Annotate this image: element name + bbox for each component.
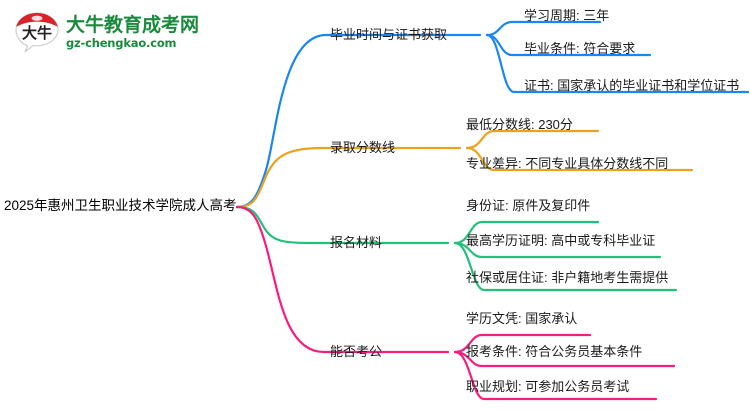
mindmap-leaf-node-2-1[interactable]: 最低分数线: 230分 bbox=[466, 117, 573, 133]
mindmap-branch-node-3[interactable]: 报名材料 bbox=[330, 235, 382, 251]
mindmap-leaf-node-4-3[interactable]: 职业规划: 可参加公务员考试 bbox=[466, 379, 629, 395]
branch-spine-1 bbox=[237, 35, 480, 207]
mindmap-leaf-node-1-2[interactable]: 毕业条件: 符合要求 bbox=[524, 41, 635, 57]
mindmap-leaf-node-1-3[interactable]: 证书: 国家承认的毕业证书和学位证书 bbox=[524, 78, 739, 94]
mindmap-canvas: 2025年惠州卫生职业技术学院成人高考 毕业时间与证书获取 学习周期: 三年 毕… bbox=[0, 0, 750, 410]
mindmap-branch-node-1[interactable]: 毕业时间与证书获取 bbox=[330, 27, 447, 43]
mindmap-leaf-node-1-1[interactable]: 学习周期: 三年 bbox=[524, 8, 609, 24]
mindmap-leaf-node-3-3[interactable]: 社保或居住证: 非户籍地考生需提供 bbox=[466, 270, 668, 286]
mindmap-leaf-node-4-1[interactable]: 学历文凭: 国家承认 bbox=[466, 311, 577, 327]
mindmap-leaf-node-3-1[interactable]: 身份证: 原件及复印件 bbox=[466, 198, 590, 214]
branch-spine-4 bbox=[237, 207, 448, 352]
mindmap-root-node[interactable]: 2025年惠州卫生职业技术学院成人高考 bbox=[4, 198, 237, 214]
branch-spine-2 bbox=[237, 148, 460, 207]
mindmap-leaf-node-3-2[interactable]: 最高学历证明: 高中或专科毕业证 bbox=[466, 233, 655, 249]
branch-connectors-1 bbox=[237, 22, 748, 207]
mindmap-leaf-node-2-2[interactable]: 专业差异: 不同专业具体分数线不同 bbox=[466, 156, 668, 172]
mindmap-branch-node-2[interactable]: 录取分数线 bbox=[330, 140, 395, 156]
mindmap-branch-node-4[interactable]: 能否考公 bbox=[330, 344, 382, 360]
mindmap-leaf-node-4-2[interactable]: 报考条件: 符合公务员基本条件 bbox=[466, 344, 642, 360]
leaf-connector-2-1 bbox=[467, 131, 598, 148]
